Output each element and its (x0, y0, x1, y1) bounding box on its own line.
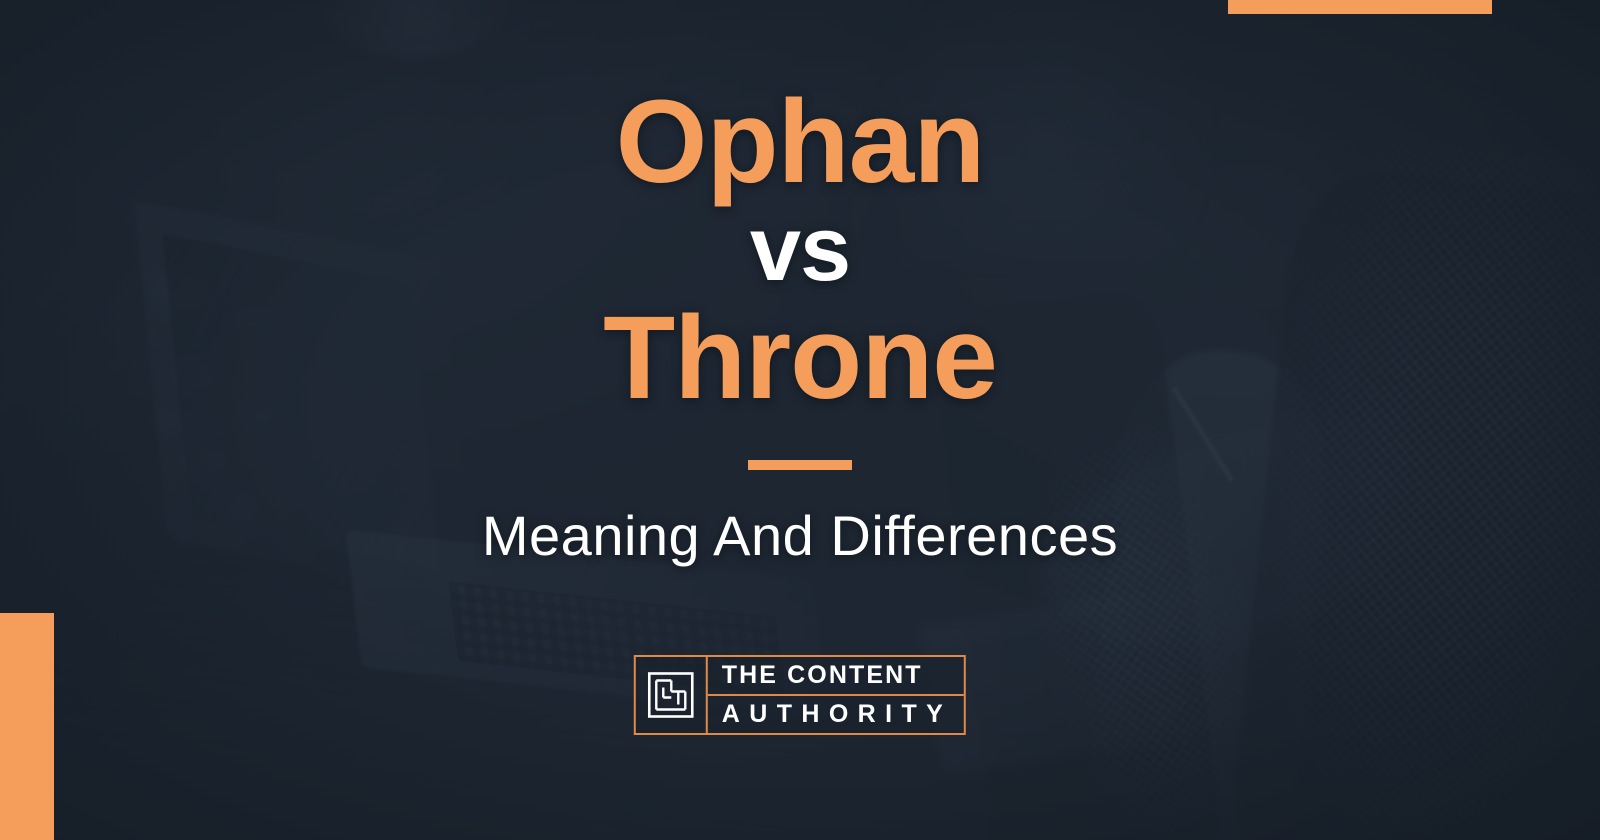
logo-line-authority: AUTHORITY (708, 696, 964, 733)
title-connector: vs (603, 200, 997, 299)
tca-monogram-icon (636, 657, 708, 733)
logo-line-the-content: THE CONTENT (708, 657, 964, 696)
page-title: Ophan vs Throne (603, 84, 997, 416)
title-divider (748, 460, 852, 470)
brand-logo[interactable]: THE CONTENT AUTHORITY (634, 655, 966, 735)
banner-canvas: Ophan vs Throne Meaning And Differences (0, 0, 1600, 840)
title-word-first: Ophan (603, 84, 997, 200)
logo-wordmark: THE CONTENT AUTHORITY (708, 657, 964, 733)
page-subtitle: Meaning And Differences (482, 503, 1118, 568)
title-word-second: Throne (603, 300, 997, 416)
